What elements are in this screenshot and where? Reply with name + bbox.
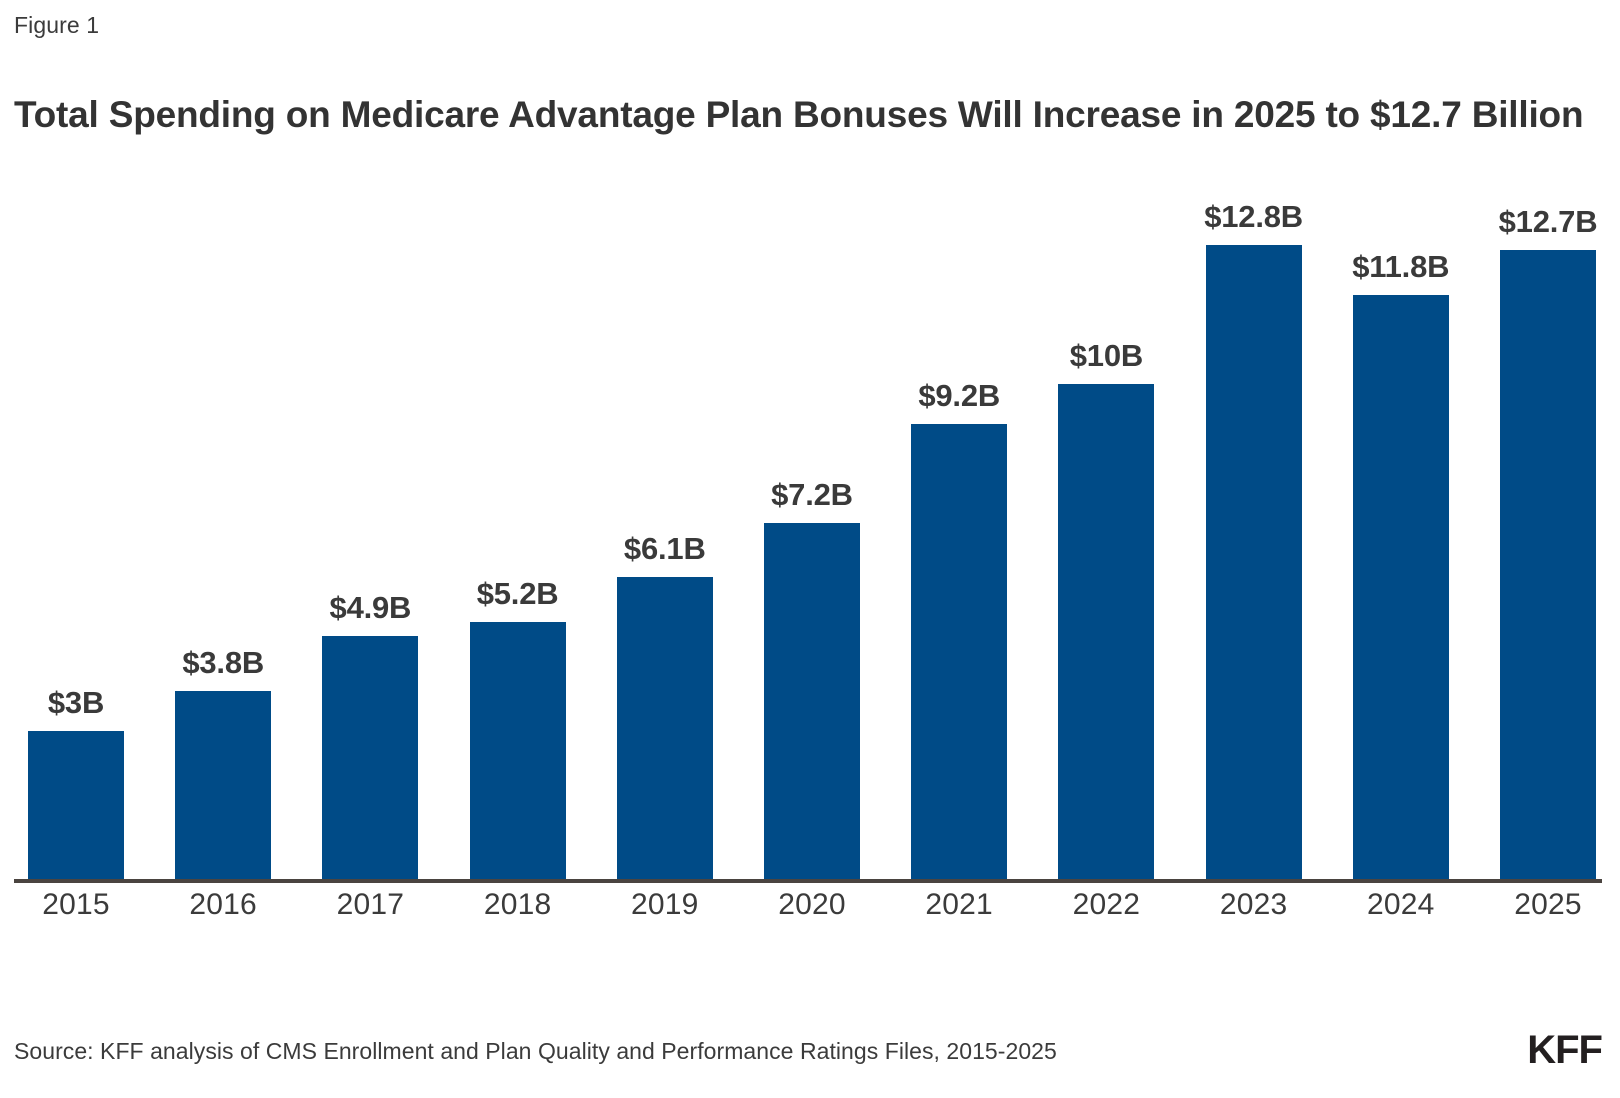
bar[interactable]	[1353, 295, 1449, 879]
x-axis-label-2016: 2016	[175, 888, 271, 922]
bar[interactable]	[322, 636, 418, 879]
bar-chart-plot-area: $3B$3.8B$4.9B$5.2B$6.1B$7.2B$9.2B$10B$12…	[0, 170, 1620, 890]
bar-value-label: $7.2B	[771, 477, 853, 513]
x-axis-label-2023: 2023	[1206, 888, 1302, 922]
bar[interactable]	[175, 691, 271, 879]
x-axis-label-2020: 2020	[764, 888, 860, 922]
x-axis-line	[14, 879, 1602, 883]
x-axis-label-2021: 2021	[911, 888, 1007, 922]
kff-logo: KFF	[1527, 1028, 1602, 1073]
bar[interactable]	[911, 424, 1007, 879]
bar-value-label: $12.7B	[1499, 204, 1598, 240]
x-axis-label-2018: 2018	[470, 888, 566, 922]
x-axis-label-2019: 2019	[617, 888, 713, 922]
bar[interactable]	[1206, 245, 1302, 879]
bar[interactable]	[1500, 250, 1596, 879]
x-axis-tick-labels: 2015201620172018201920202021202220232024…	[0, 888, 1620, 938]
page-title: Total Spending on Medicare Advantage Pla…	[14, 91, 1594, 138]
bar[interactable]	[28, 731, 124, 880]
source-note: Source: KFF analysis of CMS Enrollment a…	[14, 1038, 1057, 1065]
bar-value-label: $11.8B	[1352, 249, 1449, 285]
figure-label: Figure 1	[14, 12, 99, 40]
x-axis-label-2017: 2017	[322, 888, 418, 922]
footer-divider	[0, 1003, 1620, 1004]
bar[interactable]	[617, 577, 713, 879]
bar[interactable]	[470, 622, 566, 879]
x-axis-label-2025: 2025	[1500, 888, 1596, 922]
x-axis-label-2024: 2024	[1353, 888, 1449, 922]
bar-value-label: $10B	[1070, 338, 1143, 374]
bar-value-label: $5.2B	[477, 576, 559, 612]
x-axis-label-2015: 2015	[28, 888, 124, 922]
bar-value-label: $9.2B	[918, 378, 1000, 414]
x-axis-label-2022: 2022	[1058, 888, 1154, 922]
bar-value-label: $3.8B	[182, 645, 264, 681]
bar[interactable]	[764, 523, 860, 879]
bar-value-label: $6.1B	[624, 531, 706, 567]
bar-value-label: $4.9B	[330, 590, 412, 626]
bar[interactable]	[1058, 384, 1154, 879]
bar-value-label: $3B	[48, 685, 104, 721]
bar-value-label: $12.8B	[1204, 199, 1303, 235]
kff-figure: Figure 1 Total Spending on Medicare Adva…	[0, 0, 1620, 1098]
